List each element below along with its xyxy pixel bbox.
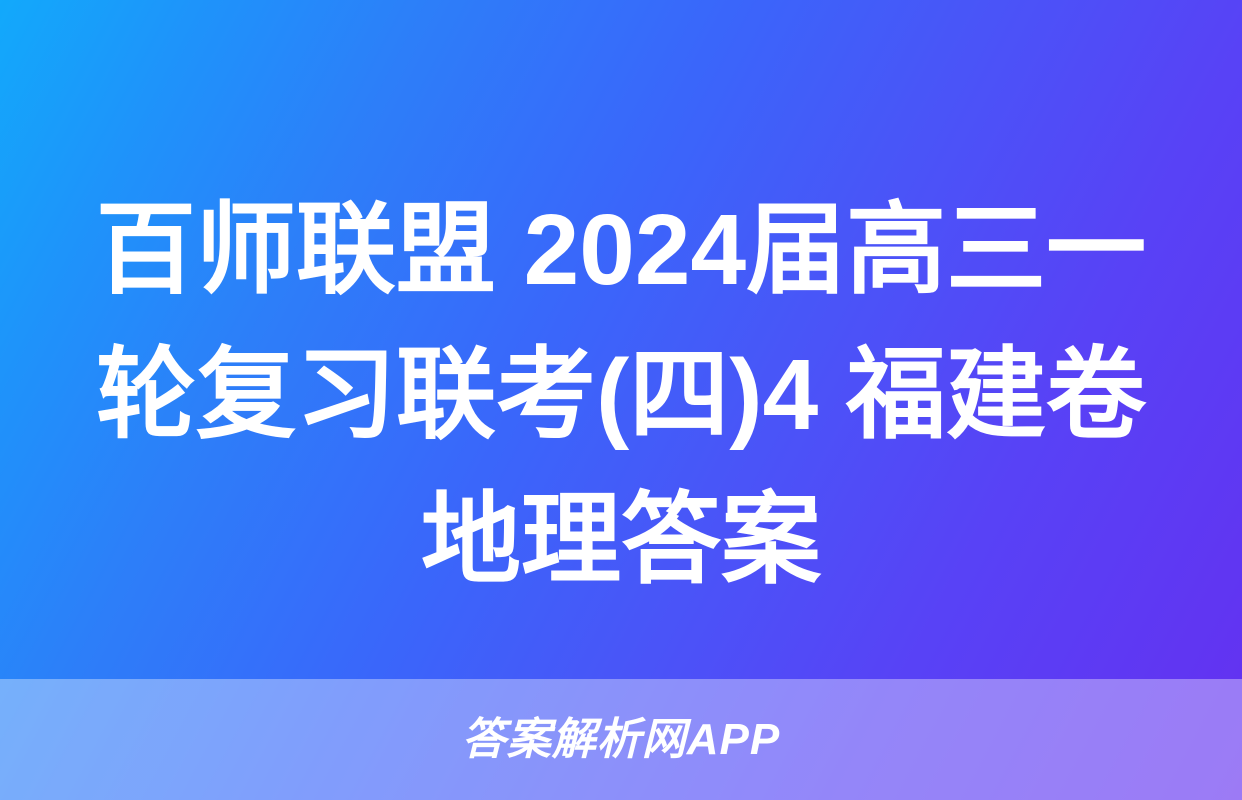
watermark-label: 答案解析网APP xyxy=(462,718,780,762)
title-line-1: 百师联盟 2024届高三一 xyxy=(64,178,1178,323)
watermark-band: 答案解析网APP xyxy=(0,679,1242,800)
poster-canvas: 百师联盟 2024届高三一 轮复习联考(四)4 福建卷 地理答案 答案解析网AP… xyxy=(0,0,1242,800)
page-title: 百师联盟 2024届高三一 轮复习联考(四)4 福建卷 地理答案 xyxy=(0,178,1242,613)
title-line-2: 轮复习联考(四)4 福建卷 xyxy=(64,323,1178,468)
title-line-3: 地理答案 xyxy=(64,468,1178,613)
